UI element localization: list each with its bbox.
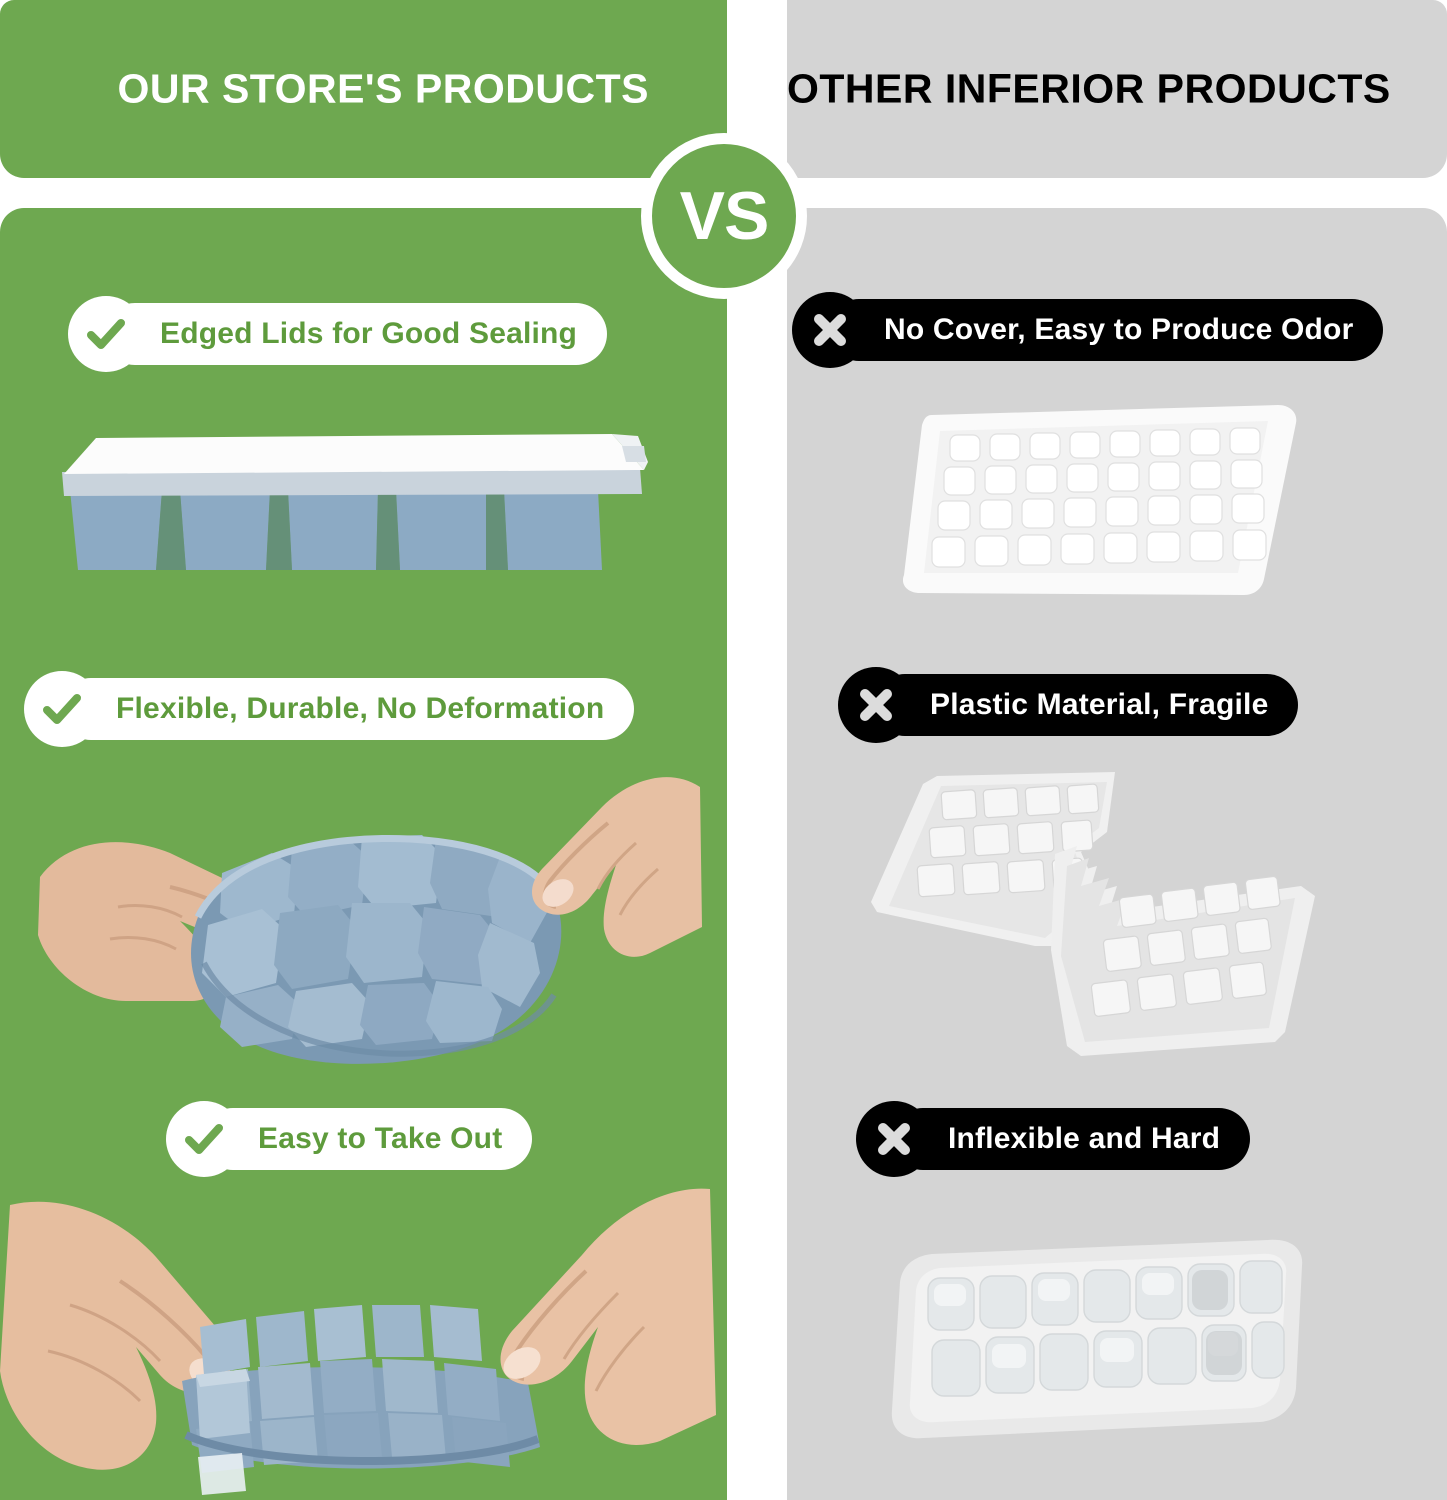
check-icon (166, 1101, 242, 1177)
drawback-item-plastic-fragile: Plastic Material, Fragile (838, 667, 1298, 743)
drawback-label: No Cover, Easy to Produce Odor (884, 313, 1353, 347)
rigid-plastic-tray-with-frosty-ice-cubes (860, 1238, 1330, 1453)
drawback-label-bar: No Cover, Easy to Produce Odor (828, 299, 1383, 361)
feature-label: Flexible, Durable, No Deformation (116, 692, 604, 726)
drawback-label: Plastic Material, Fragile (930, 688, 1268, 722)
hands-pushing-cubes-out-of-blue-tray (0, 1185, 720, 1500)
header-right-panel: OTHER INFERIOR PRODUCTS (787, 0, 1447, 178)
hands-twisting-flexible-blue-tray (30, 757, 710, 1087)
feature-label: Edged Lids for Good Sealing (160, 317, 577, 351)
drawback-item-inflexible-hard: Inflexible and Hard (856, 1101, 1250, 1177)
feature-item-edged-lids: Edged Lids for Good Sealing (68, 296, 607, 372)
feature-label-bar: Edged Lids for Good Sealing (104, 303, 607, 365)
drawback-label-bar: Plastic Material, Fragile (874, 674, 1298, 736)
x-icon (838, 667, 914, 743)
vs-badge-label: VS (680, 182, 769, 250)
feature-label-bar: Flexible, Durable, No Deformation (60, 678, 634, 740)
drawback-item-no-cover: No Cover, Easy to Produce Odor (792, 292, 1383, 368)
drawback-label-bar: Inflexible and Hard (892, 1108, 1250, 1170)
feature-item-easy-take-out: Easy to Take Out (166, 1101, 532, 1177)
header-left-title: OUR STORE'S PRODUCTS (117, 66, 649, 113)
broken-cracked-plastic-tray-two-halves (845, 770, 1335, 1060)
feature-label: Easy to Take Out (258, 1122, 502, 1156)
blue-silicone-tray-with-white-lid (52, 420, 652, 600)
tray-half-right (1051, 846, 1315, 1056)
drawback-label: Inflexible and Hard (948, 1122, 1220, 1156)
feature-label-bar: Easy to Take Out (202, 1108, 532, 1170)
comparison-infographic: OUR STORE'S PRODUCTS OTHER INFERIOR PROD… (0, 0, 1447, 1500)
feature-item-flexible-durable: Flexible, Durable, No Deformation (24, 671, 634, 747)
x-icon (792, 292, 868, 368)
vs-badge: VS (641, 133, 807, 299)
header-right-title: OTHER INFERIOR PRODUCTS (787, 66, 1391, 113)
header-left-panel: OUR STORE'S PRODUCTS (0, 0, 727, 178)
x-icon (856, 1101, 932, 1177)
check-icon (24, 671, 100, 747)
white-plastic-tray-no-lid (896, 397, 1306, 602)
check-icon (68, 296, 144, 372)
